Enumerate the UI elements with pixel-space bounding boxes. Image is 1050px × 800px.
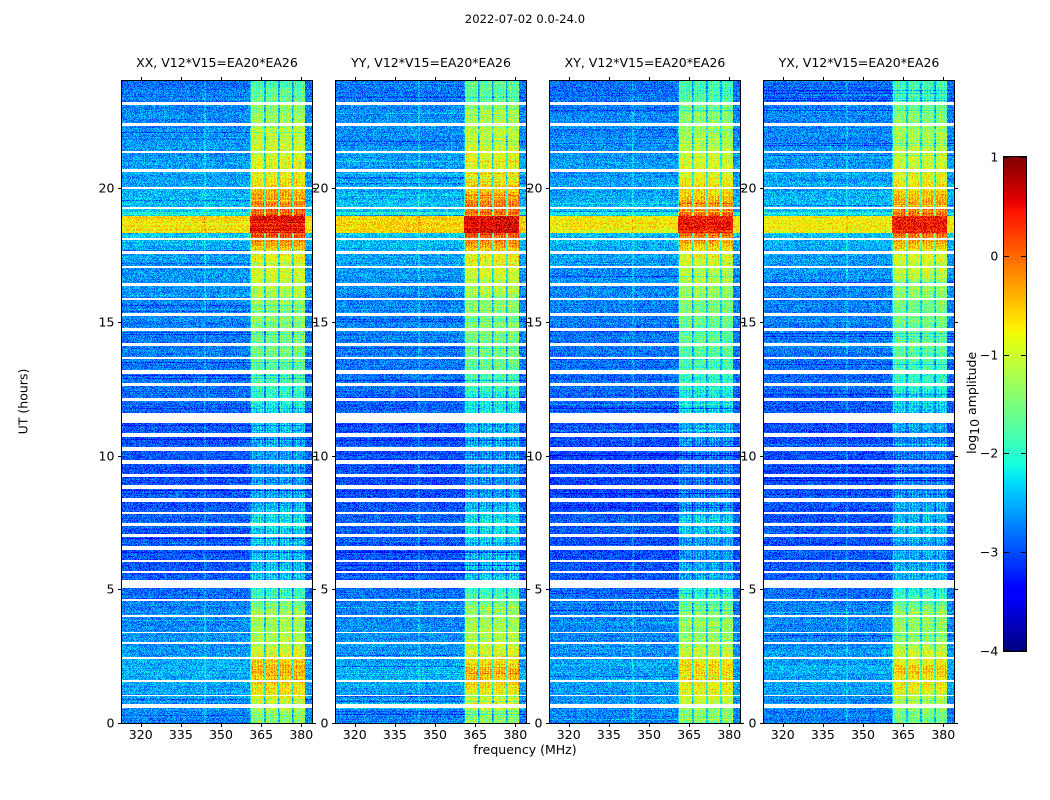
x-tick-mark xyxy=(515,77,516,81)
waterfall-panel-xx: XX, V12*V15=EA20*EA263203353503653800510… xyxy=(121,80,313,724)
x-tick-label: 350 xyxy=(209,727,233,742)
colorbar-tick-label: 0 xyxy=(990,248,998,263)
y-tick-label: 20 xyxy=(313,181,329,196)
x-tick-mark xyxy=(903,77,904,81)
x-tick-label: 350 xyxy=(851,727,875,742)
waterfall-image-xx xyxy=(122,81,312,723)
x-tick-mark xyxy=(943,77,944,81)
y-tick-mark xyxy=(954,589,958,590)
colorbar-tick-mark xyxy=(1021,453,1026,454)
y-tick-label: 10 xyxy=(99,448,115,463)
x-tick-mark xyxy=(395,77,396,81)
colorbar-tick-mark xyxy=(1004,552,1009,553)
x-tick-label: 365 xyxy=(891,727,915,742)
y-tick-label: 0 xyxy=(320,716,328,731)
x-tick-mark xyxy=(863,723,864,727)
x-tick-label: 320 xyxy=(557,727,581,742)
x-tick-mark xyxy=(649,723,650,727)
y-tick-mark xyxy=(118,589,122,590)
y-tick-mark xyxy=(760,723,764,724)
y-tick-label: 5 xyxy=(534,582,542,597)
y-tick-mark xyxy=(546,589,550,590)
y-tick-mark xyxy=(526,723,530,724)
y-tick-label: 0 xyxy=(748,716,756,731)
y-tick-mark xyxy=(118,188,122,189)
y-tick-label: 20 xyxy=(741,181,757,196)
x-tick-label: 335 xyxy=(169,727,193,742)
colorbar-tick-mark xyxy=(1021,650,1026,651)
y-tick-mark xyxy=(740,723,744,724)
x-tick-label: 335 xyxy=(383,727,407,742)
colorbar-tick-mark xyxy=(1021,355,1026,356)
x-tick-label: 380 xyxy=(717,727,741,742)
y-tick-mark xyxy=(760,188,764,189)
x-tick-mark xyxy=(609,723,610,727)
x-tick-mark xyxy=(221,77,222,81)
waterfall-image-xy xyxy=(550,81,740,723)
y-tick-mark xyxy=(332,188,336,189)
x-tick-mark xyxy=(355,77,356,81)
x-tick-label: 350 xyxy=(637,727,661,742)
waterfall-panel-yy: YY, V12*V15=EA20*EA263203353503653800510… xyxy=(335,80,527,724)
colorbar-tick-mark xyxy=(1021,256,1026,257)
y-axis-label: UT (hours) xyxy=(12,80,34,722)
x-tick-mark xyxy=(609,77,610,81)
colorbar-tick-mark xyxy=(1004,256,1009,257)
y-tick-label: 10 xyxy=(313,448,329,463)
x-tick-label: 365 xyxy=(249,727,273,742)
y-tick-label: 0 xyxy=(534,716,542,731)
y-tick-mark xyxy=(118,456,122,457)
waterfall-image-yy xyxy=(336,81,526,723)
y-tick-mark xyxy=(332,456,336,457)
x-tick-mark xyxy=(515,723,516,727)
colorbar-tick-mark xyxy=(1004,453,1009,454)
x-tick-mark xyxy=(301,723,302,727)
x-tick-mark xyxy=(181,77,182,81)
x-tick-label: 320 xyxy=(129,727,153,742)
y-tick-mark xyxy=(740,589,744,590)
x-tick-mark xyxy=(301,77,302,81)
waterfall-panel-xy: XY, V12*V15=EA20*EA263203353503653800510… xyxy=(549,80,741,724)
x-tick-label: 350 xyxy=(423,727,447,742)
x-tick-mark xyxy=(729,723,730,727)
x-tick-mark xyxy=(783,77,784,81)
y-tick-label: 10 xyxy=(741,448,757,463)
colorbar-tick-mark xyxy=(1004,157,1009,158)
x-tick-label: 320 xyxy=(343,727,367,742)
y-tick-label: 10 xyxy=(527,448,543,463)
colorbar-label-sub: 10 xyxy=(967,419,982,435)
x-tick-label: 380 xyxy=(503,727,527,742)
y-tick-mark xyxy=(954,723,958,724)
colorbar-label: log10 amplitude xyxy=(962,156,984,650)
x-tick-mark xyxy=(689,723,690,727)
x-tick-mark xyxy=(823,77,824,81)
x-tick-mark xyxy=(729,77,730,81)
y-tick-mark xyxy=(546,188,550,189)
colorbar-tick-label: 1 xyxy=(990,150,998,165)
x-tick-label: 365 xyxy=(463,727,487,742)
x-tick-mark xyxy=(863,77,864,81)
y-tick-label: 15 xyxy=(527,314,543,329)
y-tick-mark xyxy=(332,589,336,590)
x-tick-mark xyxy=(141,723,142,727)
colorbar: 10−1−2−3−4 xyxy=(1003,156,1027,652)
x-tick-mark xyxy=(783,723,784,727)
figure-canvas: 2022-07-02 0.0-24.0 UT (hours) frequency… xyxy=(0,0,1050,800)
x-tick-label: 320 xyxy=(771,727,795,742)
x-tick-mark xyxy=(141,77,142,81)
y-tick-label: 5 xyxy=(320,582,328,597)
y-tick-label: 5 xyxy=(106,582,114,597)
x-tick-mark xyxy=(649,77,650,81)
x-tick-mark xyxy=(569,77,570,81)
panel-title-yy: YY, V12*V15=EA20*EA26 xyxy=(351,55,511,70)
x-tick-label: 335 xyxy=(811,727,835,742)
panel-title-yx: YX, V12*V15=EA20*EA26 xyxy=(779,55,940,70)
colorbar-label-tail: amplitude xyxy=(964,352,979,419)
y-tick-mark xyxy=(546,322,550,323)
x-tick-mark xyxy=(395,723,396,727)
y-tick-mark xyxy=(332,322,336,323)
panel-title-xx: XX, V12*V15=EA20*EA26 xyxy=(136,55,298,70)
y-tick-mark xyxy=(526,589,530,590)
y-tick-mark xyxy=(954,456,958,457)
colorbar-tick-mark xyxy=(1004,355,1009,356)
y-tick-label: 20 xyxy=(99,181,115,196)
y-tick-mark xyxy=(312,723,316,724)
x-tick-mark xyxy=(475,723,476,727)
x-tick-mark xyxy=(435,723,436,727)
x-tick-mark xyxy=(261,77,262,81)
y-tick-mark xyxy=(760,456,764,457)
y-tick-mark xyxy=(546,723,550,724)
y-tick-mark xyxy=(760,322,764,323)
x-tick-label: 380 xyxy=(289,727,313,742)
y-tick-label: 20 xyxy=(527,181,543,196)
y-tick-label: 15 xyxy=(313,314,329,329)
waterfall-panel-yx: YX, V12*V15=EA20*EA263203353503653800510… xyxy=(763,80,955,724)
y-tick-mark xyxy=(546,456,550,457)
y-tick-label: 15 xyxy=(99,314,115,329)
colorbar-tick-mark xyxy=(1004,650,1009,651)
y-tick-mark xyxy=(954,322,958,323)
x-tick-mark xyxy=(261,723,262,727)
x-tick-mark xyxy=(569,723,570,727)
y-tick-mark xyxy=(312,589,316,590)
x-tick-mark xyxy=(221,723,222,727)
panel-title-xy: XY, V12*V15=EA20*EA26 xyxy=(565,55,726,70)
x-tick-mark xyxy=(903,723,904,727)
x-tick-label: 380 xyxy=(931,727,955,742)
y-tick-mark xyxy=(118,723,122,724)
x-tick-label: 365 xyxy=(677,727,701,742)
x-tick-mark xyxy=(823,723,824,727)
x-tick-mark xyxy=(355,723,356,727)
x-tick-mark xyxy=(689,77,690,81)
y-tick-label: 0 xyxy=(106,716,114,731)
x-tick-mark xyxy=(435,77,436,81)
x-tick-mark xyxy=(181,723,182,727)
waterfall-image-yx xyxy=(764,81,954,723)
y-tick-mark xyxy=(954,188,958,189)
colorbar-tick-mark xyxy=(1021,552,1026,553)
x-axis-label: frequency (MHz) xyxy=(0,742,1050,757)
y-tick-label: 5 xyxy=(748,582,756,597)
colorbar-label-main: log xyxy=(964,435,979,454)
y-tick-label: 15 xyxy=(741,314,757,329)
colorbar-tick-mark xyxy=(1021,157,1026,158)
x-tick-label: 335 xyxy=(597,727,621,742)
x-tick-mark xyxy=(475,77,476,81)
y-tick-mark xyxy=(332,723,336,724)
y-tick-mark xyxy=(118,322,122,323)
figure-suptitle: 2022-07-02 0.0-24.0 xyxy=(0,12,1050,26)
y-tick-mark xyxy=(760,589,764,590)
x-tick-mark xyxy=(943,723,944,727)
colorbar-gradient xyxy=(1004,157,1026,651)
